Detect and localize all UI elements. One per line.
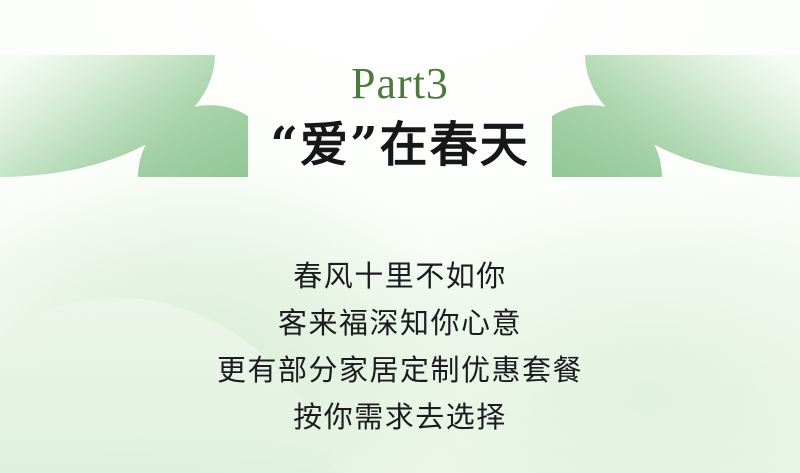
body-line-1: 春风十里不如你 bbox=[0, 254, 800, 301]
body-text-block: 春风十里不如你 客来福深知你心意 更有部分家居定制优惠套餐 按你需求去选择 bbox=[0, 254, 800, 442]
body-line-3: 更有部分家居定制优惠套餐 bbox=[0, 348, 800, 395]
slide-canvas: Part3 “爱”在春天 春风十里不如你 客来福深知你心意 更有部分家居定制优惠… bbox=[0, 0, 800, 473]
page-title: “爱”在春天 bbox=[0, 116, 800, 174]
heading-block: Part3 “爱”在春天 bbox=[0, 58, 800, 174]
part-label: Part3 bbox=[0, 58, 800, 110]
body-line-4: 按你需求去选择 bbox=[0, 395, 800, 442]
body-line-2: 客来福深知你心意 bbox=[0, 301, 800, 348]
